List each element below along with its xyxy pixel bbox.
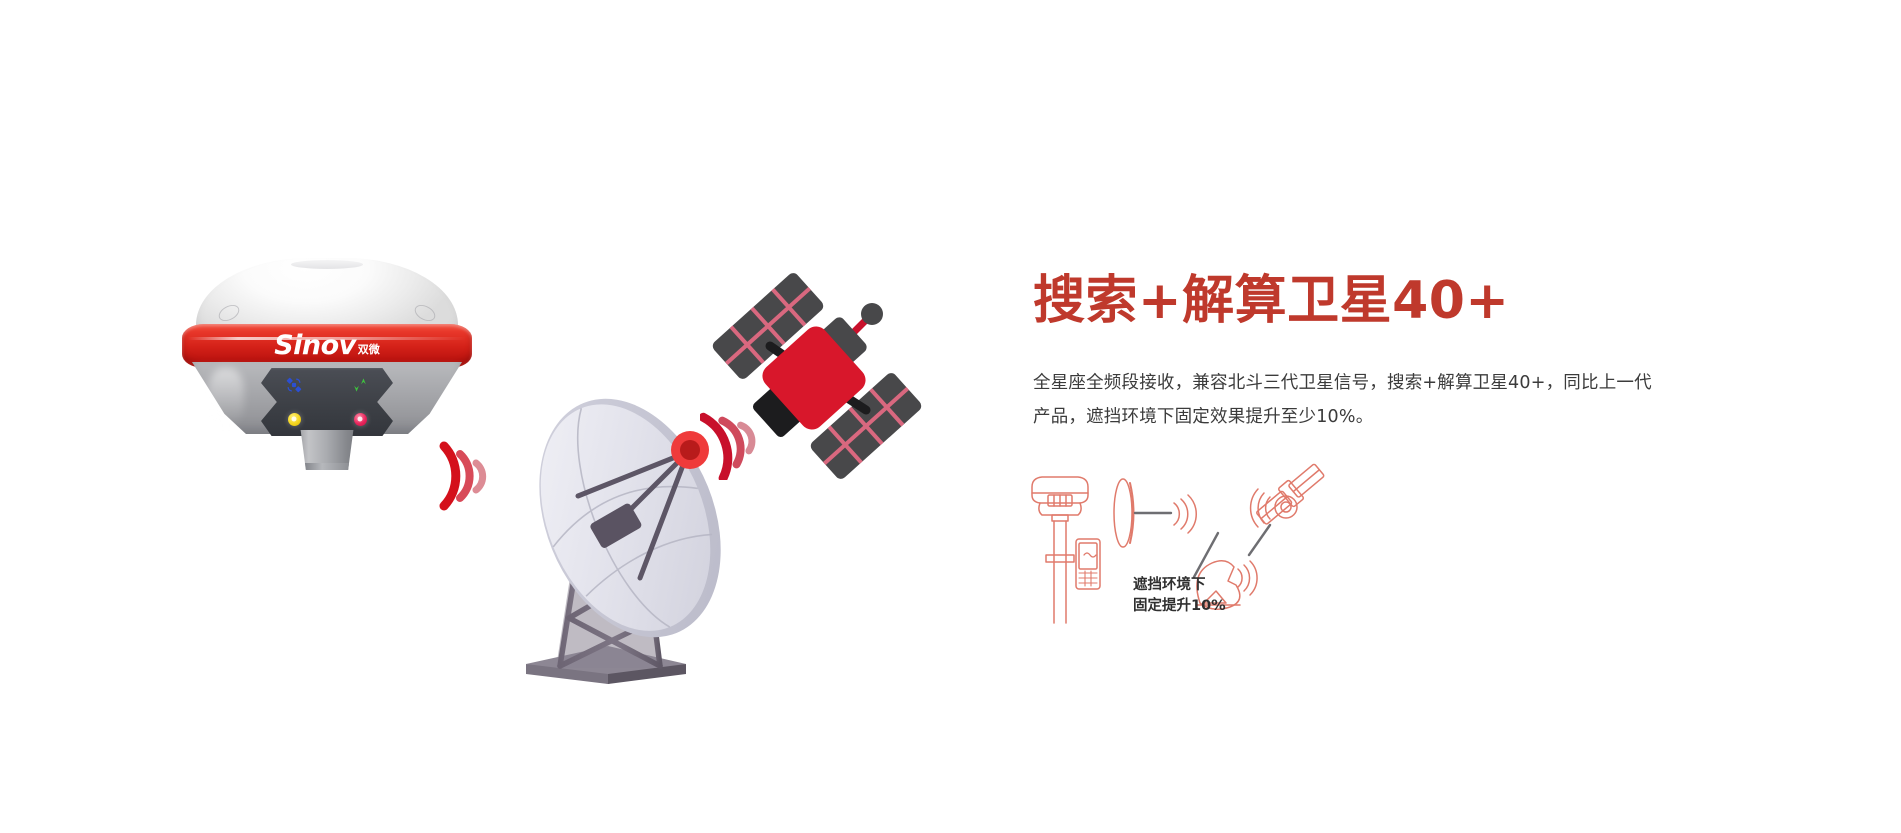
orbiting-satellite [690, 268, 940, 498]
product-illustration: Sinov 双微 [0, 0, 1030, 833]
page-canvas: Sinov 双微 [0, 0, 1901, 833]
page-title: 搜索+解算卫星40+ [1033, 272, 1823, 330]
receiver-body-highlight [208, 368, 244, 426]
mini-diagram-caption: 遮挡环境下 固定提升10% [1133, 575, 1293, 616]
panel-icon-row [261, 368, 393, 402]
content-column: 搜索+解算卫星40+ 全星座全频段接收，兼容北斗三代卫星信号，搜索+解算卫星40… [1033, 272, 1823, 434]
receiver-control-panel [261, 368, 393, 436]
receiver-red-band: Sinov 双微 [182, 324, 472, 368]
satellite-icon [285, 376, 303, 394]
status-led-red[interactable] [354, 413, 367, 426]
body-description: 全星座全频段接收，兼容北斗三代卫星信号，搜索+解算卫星40+，同比上一代产品，遮… [1033, 366, 1653, 434]
satellite-line-icon [1251, 461, 1328, 528]
brand-logo-cn: 双微 [358, 345, 380, 356]
power-led-yellow[interactable] [288, 413, 301, 426]
brand-logo-word: Sinov [274, 332, 356, 359]
handheld-controller [1076, 539, 1100, 589]
diagram-connectors [1135, 513, 1270, 577]
signal-wave-small [1174, 495, 1196, 533]
obstruction-barrier [1114, 479, 1134, 547]
receiver-pole-mount [294, 430, 360, 470]
data-transfer-icon [351, 376, 369, 394]
gnss-receiver: Sinov 双微 [182, 258, 472, 468]
brand-logo: Sinov 双微 [274, 332, 380, 359]
antenna-tip [861, 303, 883, 325]
